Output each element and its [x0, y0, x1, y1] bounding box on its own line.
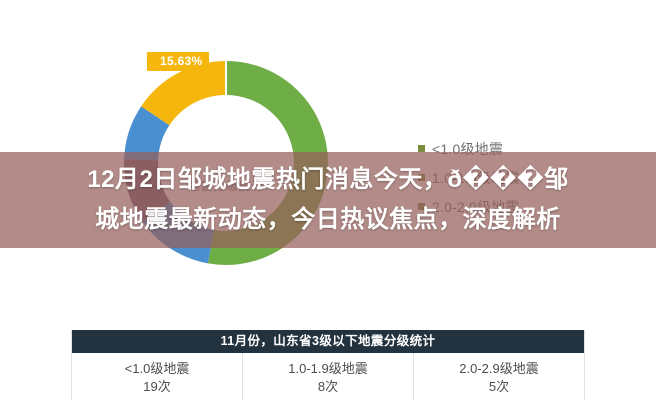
headline-line-2: 城地震最新动态，今日热议焦点，深度解析 [8, 200, 648, 240]
statistics-table: 11月份，山东省3级以下地震分级统计 <1.0级地震 19次 1.0-1.9级地… [71, 330, 585, 400]
table-cell: 1.0-1.9级地震 8次 [243, 353, 414, 400]
screenshot-root: 地震分级统计 15.63% <1.0级地震 1.0-1.9级地震 2.0-2.9… [0, 0, 656, 400]
table-cell-count: 19次 [72, 378, 242, 396]
legend-swatch-icon [418, 145, 425, 152]
data-label-value: 15.63% [160, 52, 203, 71]
table-cell: 2.0-2.9级地震 5次 [414, 353, 584, 400]
table-cell-category: <1.0级地震 [72, 360, 242, 378]
table-cell-category: 1.0-1.9级地震 [243, 360, 413, 378]
data-label-marker-icon [150, 59, 155, 64]
table-cell: <1.0级地震 19次 [72, 353, 243, 400]
table-cell-category: 2.0-2.9级地震 [414, 360, 584, 378]
donut-data-label: 15.63% [147, 52, 209, 71]
table-cell-count: 8次 [243, 378, 413, 396]
headline-line-1: 12月2日邹城地震热门消息今天，ð���邹 [8, 160, 648, 200]
table-row: <1.0级地震 19次 1.0-1.9级地震 8次 2.0-2.9级地震 5次 [72, 353, 584, 400]
headline-overlay-text: 12月2日邹城地震热门消息今天，ð���邹 城地震最新动态，今日热议焦点，深度解… [0, 152, 656, 248]
table-title: 11月份，山东省3级以下地震分级统计 [72, 330, 584, 353]
table-cell-count: 5次 [414, 378, 584, 396]
